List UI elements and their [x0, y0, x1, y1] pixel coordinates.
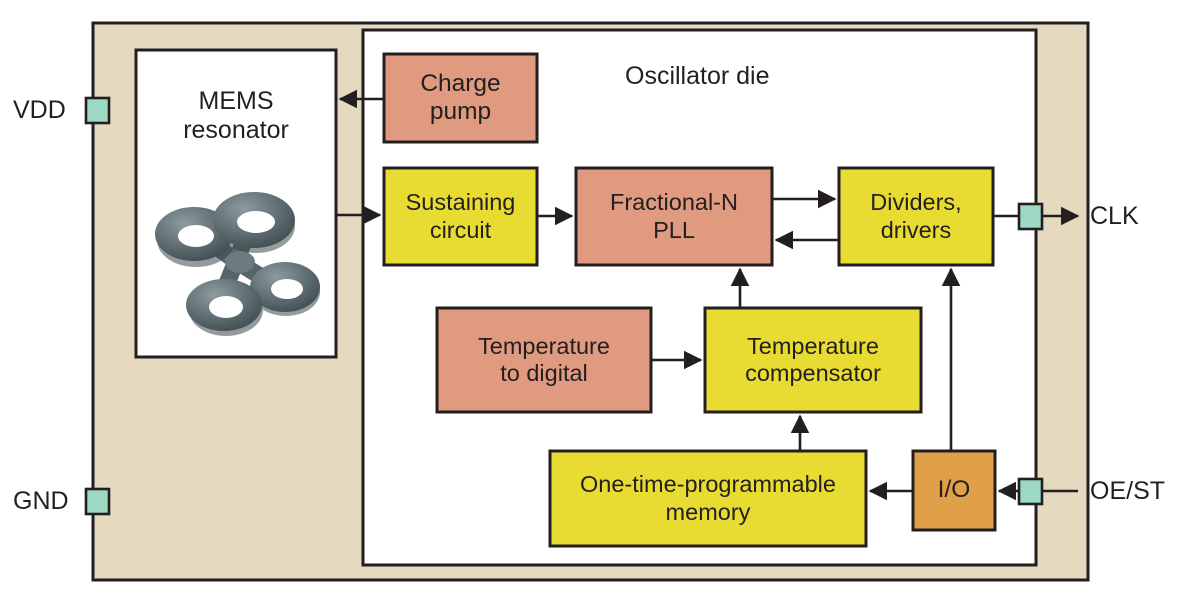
resonator-hub	[225, 251, 255, 273]
pad-gnd[interactable]	[86, 489, 109, 514]
diagram-canvas	[0, 0, 1200, 605]
resonator-ring	[186, 279, 262, 331]
resonator-ring	[213, 192, 295, 248]
sustaining-circuit-box[interactable]	[384, 168, 537, 265]
pad-oest[interactable]	[1019, 479, 1042, 504]
dividers-drivers-box[interactable]	[839, 168, 993, 265]
pad-clk[interactable]	[1019, 204, 1042, 229]
pin-label-oest: OE/ST	[1090, 479, 1165, 504]
pad-vdd[interactable]	[86, 98, 109, 123]
fractional-n-pll-box[interactable]	[576, 168, 772, 265]
temperature-compensator-box[interactable]	[705, 308, 921, 412]
pin-gnd-text: GND	[13, 487, 69, 516]
temperature-to-digital-box[interactable]	[437, 308, 651, 412]
pin-clk-text: CLK	[1090, 202, 1139, 231]
pin-vdd-text: VDD	[13, 96, 66, 125]
charge-pump-box[interactable]	[384, 54, 537, 142]
mems-oscillator-diagram: Oscillator die MEMSresonator Chargepump …	[0, 0, 1200, 605]
pin-oest-text: OE/ST	[1090, 477, 1165, 506]
pin-label-gnd: GND	[13, 489, 69, 514]
otp-memory-box[interactable]	[550, 451, 866, 546]
io-box[interactable]	[913, 451, 995, 530]
oscillator-die-label: Oscillator die	[625, 62, 770, 91]
pin-label-vdd: VDD	[13, 98, 66, 123]
pin-label-clk: CLK	[1090, 204, 1139, 229]
